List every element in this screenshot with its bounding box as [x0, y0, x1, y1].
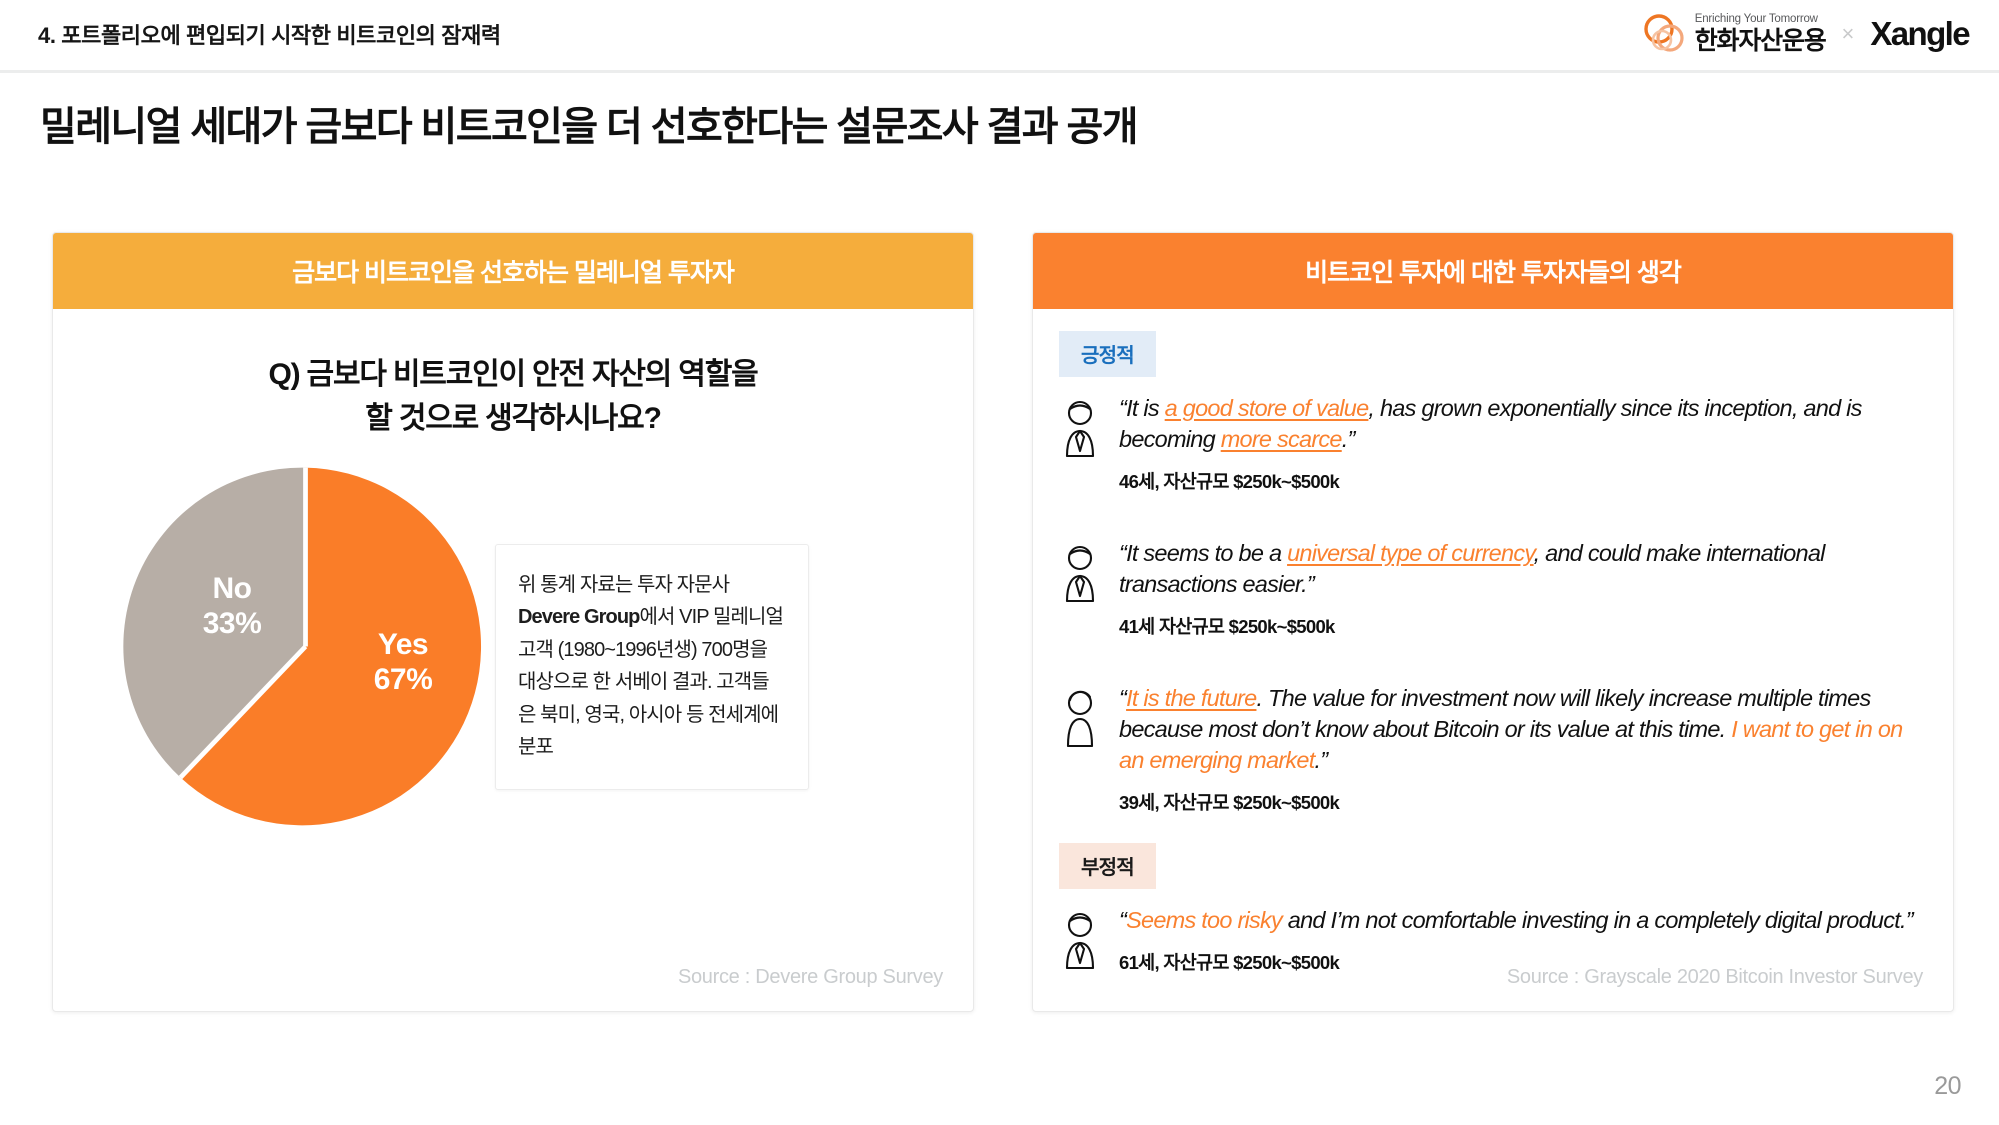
quote-segment: .”: [1315, 747, 1328, 773]
header-section-kicker: 4. 포트폴리오에 편입되기 시작한 비트코인의 잠재력: [38, 18, 501, 50]
survey-question-line1: Q) 금보다 비트코인이 안전 자산의 역할을: [53, 353, 973, 397]
page-number: 20: [1934, 1072, 1961, 1101]
quote-respondent-meta: 41세 자산규모 $250k~$500k: [1119, 613, 1927, 639]
quote-respondent-meta: 46세, 자산규모 $250k~$500k: [1119, 468, 1927, 494]
quote-segment: .”: [1342, 426, 1355, 452]
slide-header: 4. 포트폴리오에 편입되기 시작한 비트코인의 잠재력 Enriching Y…: [0, 0, 1999, 72]
quote-row: “It is the future. The value for investm…: [1059, 683, 1927, 815]
logo-lockup: Enriching Your Tomorrow 한화자산운용 × Xangle: [1643, 8, 1969, 60]
quote-text: “Seems too risky and I’m not comfortable…: [1119, 905, 1927, 936]
quote-row: “It seems to be a universal type of curr…: [1059, 538, 1927, 665]
quote-text: “It is a good store of value, has grown …: [1119, 393, 1927, 455]
survey-question: Q) 금보다 비트코인이 안전 자산의 역할을 할 것으로 생각하시나요?: [53, 353, 973, 440]
hanwha-logo: Enriching Your Tomorrow 한화자산운용: [1643, 13, 1826, 55]
hanwha-tagline: Enriching Your Tomorrow: [1695, 14, 1826, 26]
header-divider: [0, 70, 1999, 73]
survey-note-part1: 위 통계 자료는 투자 자문사: [518, 574, 729, 596]
left-panel-header: 금보다 비트코인을 선호하는 밀레니얼 투자자: [53, 233, 973, 309]
quote-segment: “It is: [1119, 395, 1165, 421]
quote-body: “It is a good store of value, has grown …: [1119, 393, 1927, 494]
xangle-logo: Xangle: [1870, 15, 1969, 53]
quote-body: “Seems too risky and I’m not comfortable…: [1119, 905, 1927, 975]
pie-chart: No 33% Yes 67%: [123, 464, 488, 829]
quote-highlight-underlined: universal type of currency: [1287, 540, 1534, 566]
person-male-icon: [1059, 544, 1101, 607]
right-panel-body: 긍정적 “It is a good store of value, has gr…: [1033, 309, 1953, 975]
person-male-icon: [1059, 911, 1101, 974]
status-badge-negative: 부정적: [1059, 843, 1156, 889]
quote-highlight-underlined: more scarce: [1221, 426, 1342, 452]
chart-area: No 33% Yes 67% 위 통계 자료는 투자 자문사 Devere Gr…: [53, 464, 973, 884]
left-panel: 금보다 비트코인을 선호하는 밀레니얼 투자자 Q) 금보다 비트코인이 안전 …: [52, 232, 974, 1012]
quote-highlight-underlined: It is the future: [1126, 685, 1256, 711]
quote-text: “It seems to be a universal type of curr…: [1119, 538, 1927, 600]
quote-text: “It is the future. The value for investm…: [1119, 683, 1927, 776]
survey-note-box: 위 통계 자료는 투자 자문사 Devere Group에서 VIP 밀레니얼 …: [495, 544, 809, 790]
hanwha-name: 한화자산운용: [1695, 29, 1826, 54]
hanwha-circles-icon: [1643, 13, 1687, 55]
page-title: 밀레니얼 세대가 금보다 비트코인을 더 선호한다는 설문조사 결과 공개: [40, 94, 1137, 152]
quote-highlight-underlined: a good store of value: [1165, 395, 1369, 421]
survey-note-bold: Devere Group: [518, 606, 639, 628]
quote-segment: “It seems to be a: [1119, 540, 1287, 566]
quote-highlight: Seems too risky: [1126, 907, 1282, 933]
person-male-icon: [1059, 399, 1101, 462]
quote-row: “It is a good store of value, has grown …: [1059, 393, 1927, 520]
status-badge-positive: 긍정적: [1059, 331, 1156, 377]
logo-separator-icon: ×: [1842, 21, 1855, 47]
person-female-icon: [1059, 689, 1101, 752]
quote-body: “It seems to be a universal type of curr…: [1119, 538, 1927, 639]
survey-question-line2: 할 것으로 생각하시나요?: [53, 397, 973, 441]
survey-note-part2: 에서 VIP 밀레니얼 고객 (1980~1996년생) 700명을 대상으로 …: [518, 606, 783, 758]
right-panel-header: 비트코인 투자에 대한 투자자들의 생각: [1033, 233, 1953, 309]
right-panel: 비트코인 투자에 대한 투자자들의 생각 긍정적 “It is a good s…: [1032, 232, 1954, 1012]
right-panel-source: Source : Grayscale 2020 Bitcoin Investor…: [1507, 966, 1923, 989]
quote-segment: and I’m not comfortable investing in a c…: [1282, 907, 1913, 933]
quote-body: “It is the future. The value for investm…: [1119, 683, 1927, 815]
negative-quote-list: “Seems too risky and I’m not comfortable…: [1059, 905, 1927, 975]
left-panel-source: Source : Devere Group Survey: [678, 966, 943, 989]
quote-row: “Seems too risky and I’m not comfortable…: [1059, 905, 1927, 975]
positive-quote-list: “It is a good store of value, has grown …: [1059, 393, 1927, 815]
quote-respondent-meta: 39세, 자산규모 $250k~$500k: [1119, 789, 1927, 815]
